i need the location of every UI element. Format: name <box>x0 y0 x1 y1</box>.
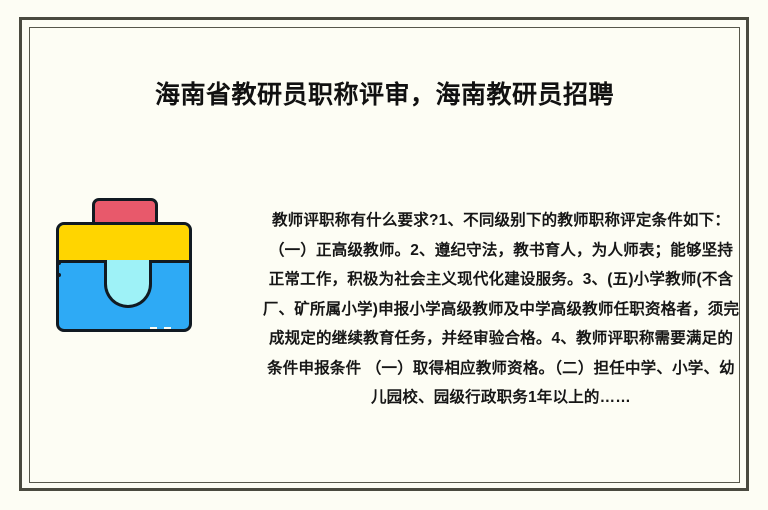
toolbox-dome-icon <box>104 260 152 308</box>
toolbox-edge-notch <box>164 327 171 331</box>
toolbox-body-icon <box>56 222 192 332</box>
article-body-text: 教师评职称有什么要求?1、不同级别下的教师职称评定条件如下：（一）正高级教师。2… <box>262 206 740 413</box>
toolbox-rivet-icon <box>57 261 61 265</box>
toolbox-edge-notch <box>150 327 157 331</box>
toolbox-illustration <box>56 198 192 334</box>
page-title: 海南省教研员职称评审，海南教研员招聘 <box>29 78 740 112</box>
article-card: 海南省教研员职称评审，海南教研员招聘 教师评职称有什么要求?1、不同级别下的教师… <box>0 0 768 510</box>
toolbox-rivet-icon <box>57 273 61 277</box>
toolbox-latch-icon <box>59 225 189 263</box>
